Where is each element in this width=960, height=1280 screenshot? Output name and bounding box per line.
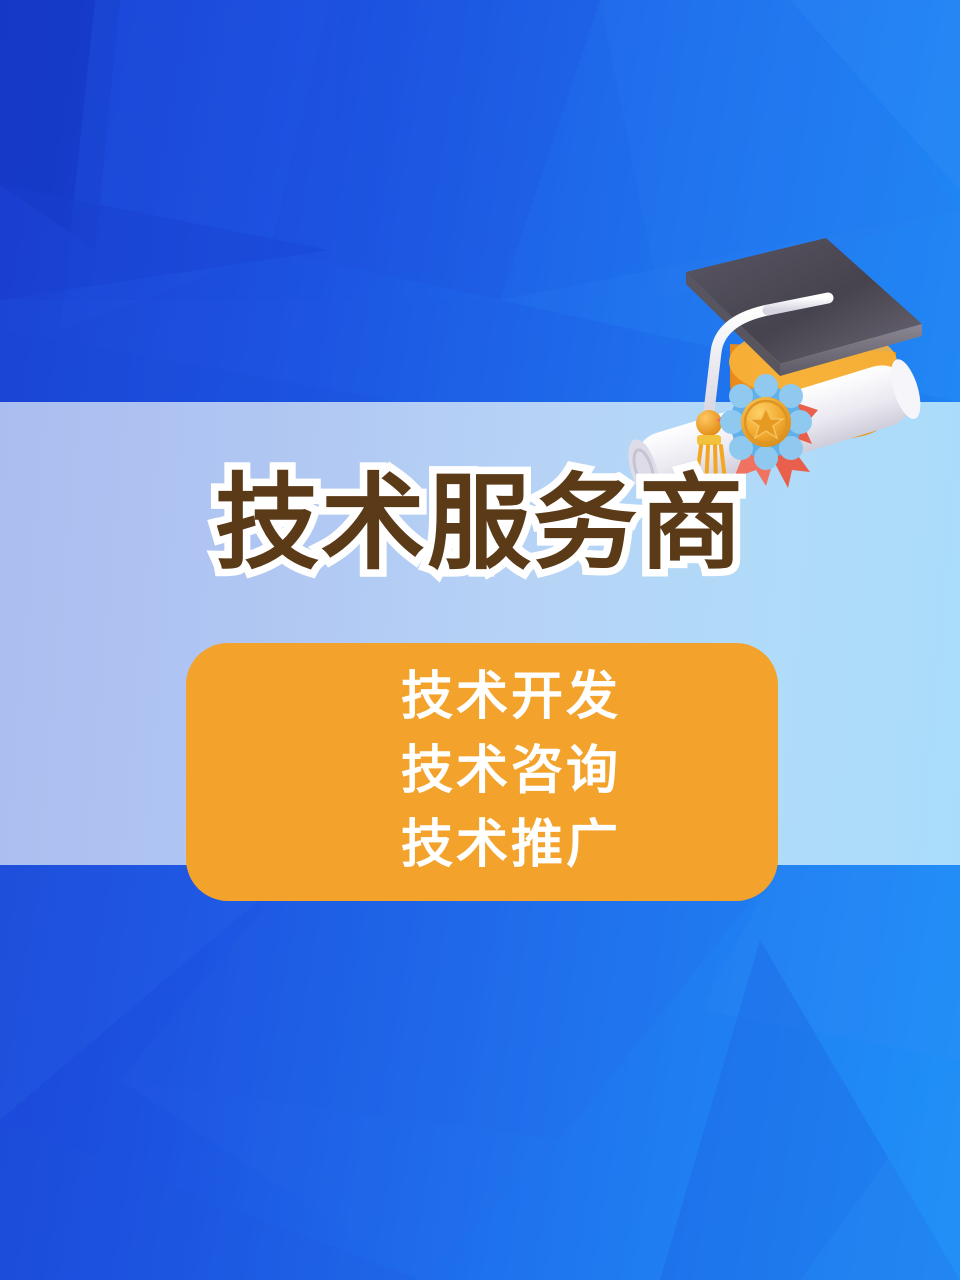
service-item-promotion: 技术推广 [401,809,621,883]
poster-canvas: 技术服务商 技术开发 技术咨询 技术推广 [0,0,960,1280]
graduation-cap-icon [612,232,960,500]
page-title: 技术服务商 [0,466,960,582]
service-item-consulting: 技术咨询 [401,735,621,809]
service-list-card: 技术开发 技术咨询 技术推广 [186,643,778,901]
service-item-development: 技术开发 [401,661,621,735]
